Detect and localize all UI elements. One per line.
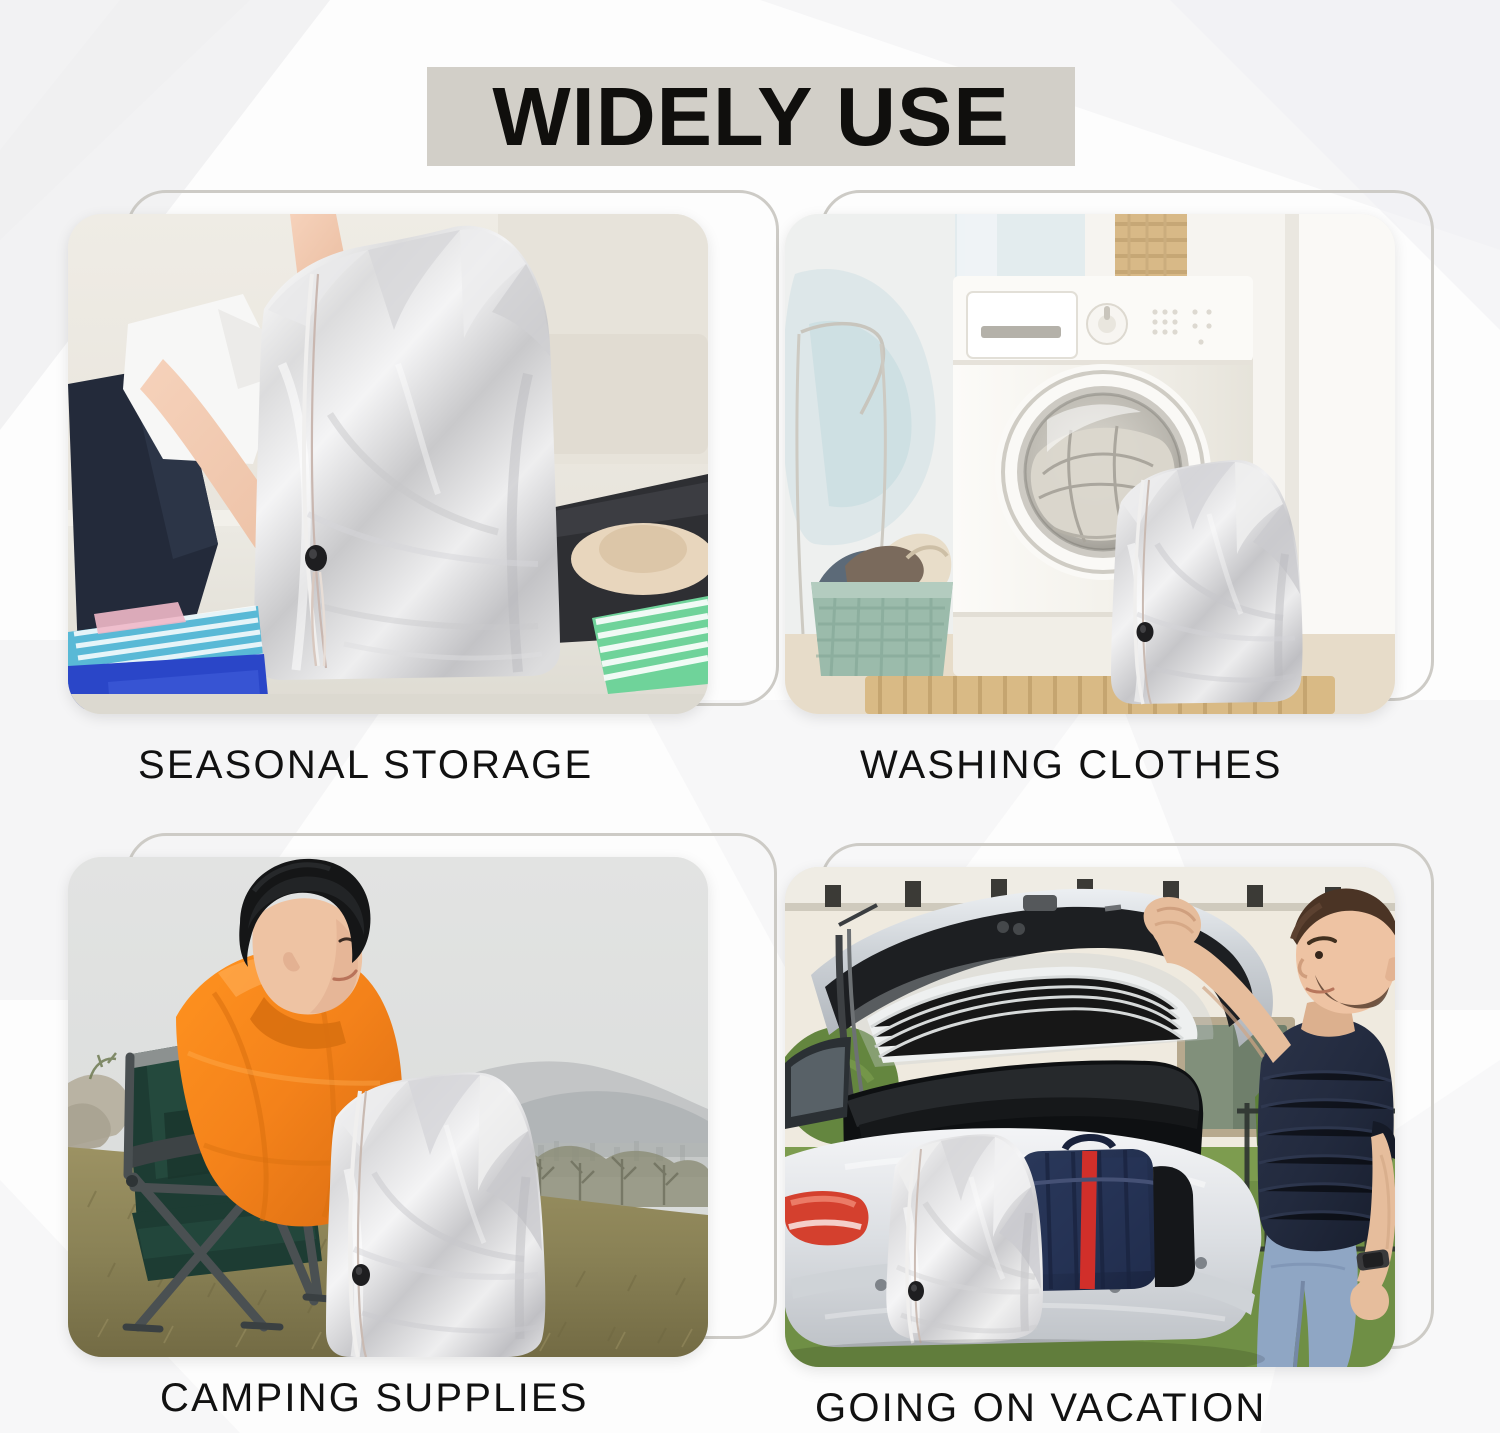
use-case-card-washing-clothes[interactable]: WASHING CLOTHES: [785, 190, 1445, 790]
card-caption-seasonal-storage: SEASONAL STORAGE: [138, 745, 593, 785]
use-case-card-going-on-vacation[interactable]: GOING ON VACATION: [785, 843, 1445, 1433]
page-header: WIDELY USE: [0, 0, 1500, 200]
card-photo-going-on-vacation: [785, 867, 1395, 1367]
card-photo-camping-supplies: [68, 857, 708, 1357]
use-case-card-seasonal-storage[interactable]: SEASONAL STORAGE: [68, 190, 748, 790]
card-caption-washing-clothes: WASHING CLOTHES: [860, 745, 1283, 785]
use-case-grid: SEASONAL STORAGE: [0, 0, 1500, 1433]
card-photo-washing-clothes: [785, 214, 1395, 714]
page-title: WIDELY USE: [427, 67, 1075, 166]
card-caption-going-on-vacation: GOING ON VACATION: [815, 1388, 1267, 1428]
card-caption-camping-supplies: CAMPING SUPPLIES: [160, 1378, 589, 1418]
use-case-card-camping-supplies[interactable]: CAMPING SUPPLIES: [68, 833, 748, 1433]
card-photo-seasonal-storage: [68, 214, 708, 714]
